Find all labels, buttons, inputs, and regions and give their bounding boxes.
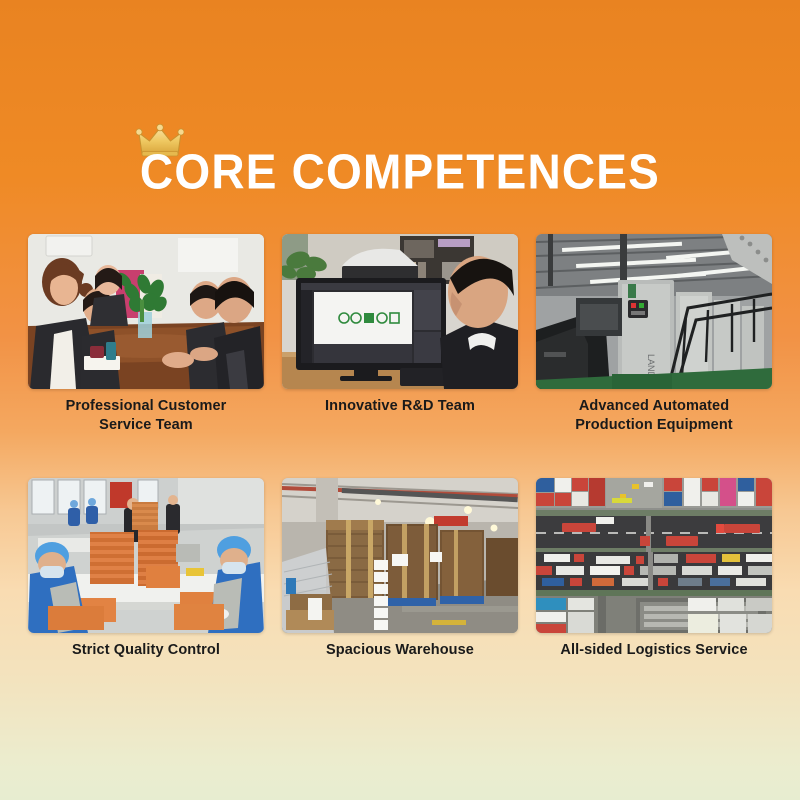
caption-line-1: Strict Quality Control [72, 641, 220, 660]
card-strict-quality-control[interactable]: Strict Quality Control [28, 478, 264, 681]
card-caption: Advanced Automated Production Equipment [536, 397, 772, 437]
page-title: CORE COMPETENCES [140, 147, 660, 196]
card-caption: Professional Customer Service Team [28, 397, 264, 437]
card-caption: Innovative R&D Team [282, 397, 518, 437]
card-caption: Strict Quality Control [28, 641, 264, 681]
card-image-logistics-aerial [536, 478, 772, 633]
caption-line-1: Professional Customer [66, 397, 227, 416]
competence-grid: Professional Customer Service Team [28, 234, 772, 681]
card-all-sided-logistics-service[interactable]: All-sided Logistics Service [536, 478, 772, 681]
card-innovative-rd-team[interactable]: Innovative R&D Team [282, 234, 518, 437]
card-advanced-automated-production-equipment[interactable]: LAND 800 [536, 234, 772, 437]
caption-line-1: All-sided Logistics Service [560, 641, 747, 660]
card-image-designer [282, 234, 518, 389]
card-image-meeting [28, 234, 264, 389]
card-image-printing-press: LAND 800 [536, 234, 772, 389]
card-professional-customer-service-team[interactable]: Professional Customer Service Team [28, 234, 264, 437]
header: CORE COMPETENCES [0, 150, 800, 196]
caption-line-1: Innovative R&D Team [325, 397, 475, 416]
card-caption: All-sided Logistics Service [536, 641, 772, 681]
caption-line-1: Advanced Automated [575, 397, 732, 416]
core-competences-banner: CORE COMPETENCES [0, 0, 800, 800]
caption-line-2: Production Equipment [575, 416, 732, 435]
caption-line-1: Spacious Warehouse [326, 641, 474, 660]
card-caption: Spacious Warehouse [282, 641, 518, 681]
card-image-quality-control [28, 478, 264, 633]
caption-line-2: Service Team [66, 416, 227, 435]
title-wrap: CORE COMPETENCES [140, 150, 660, 196]
card-spacious-warehouse[interactable]: Spacious Warehouse [282, 478, 518, 681]
card-image-warehouse [282, 478, 518, 633]
